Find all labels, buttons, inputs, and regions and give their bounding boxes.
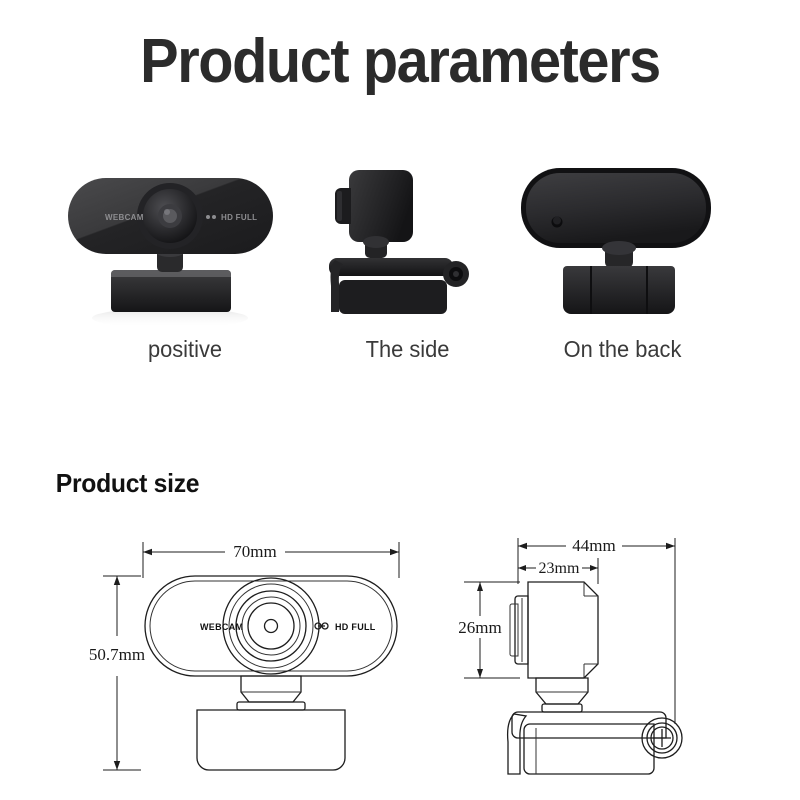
caption-side: The side bbox=[320, 336, 496, 363]
front-photo-webcam-label: WEBCAM bbox=[105, 213, 144, 222]
section-title: Product size bbox=[56, 468, 199, 499]
dim-height-50-7mm: 50.7mm bbox=[89, 645, 145, 664]
webcam-front-photo: WEBCAM HD FULL bbox=[60, 160, 310, 335]
caption-back: On the back bbox=[520, 336, 724, 363]
product-parameters-page: Product parameters bbox=[0, 0, 800, 800]
product-views-row: WEBCAM HD FULL positive bbox=[0, 160, 800, 375]
dim-width-70mm: 70mm bbox=[233, 542, 276, 561]
product-view-back: On the back bbox=[515, 160, 730, 375]
page-title: Product parameters bbox=[28, 26, 772, 97]
dim-body-depth-23mm: 23mm bbox=[539, 560, 580, 577]
dim-depth-44mm: 44mm bbox=[572, 536, 615, 555]
side-dimension-drawing: 44mm 23mm 26mm bbox=[440, 528, 740, 778]
webcam-side-photo bbox=[315, 160, 500, 335]
front-dimension-drawing: 70mm 50.7mm WEBCAM bbox=[85, 528, 425, 778]
drawing-hdfull-label: HD FULL bbox=[335, 622, 376, 632]
webcam-back-photo bbox=[515, 160, 730, 335]
drawing-webcam-label: WEBCAM bbox=[200, 622, 243, 632]
caption-front: positive bbox=[66, 336, 304, 363]
product-size-drawings: 70mm 50.7mm WEBCAM bbox=[0, 528, 800, 790]
product-view-side: The side bbox=[315, 160, 500, 375]
product-view-front: WEBCAM HD FULL positive bbox=[60, 160, 310, 375]
dim-body-height-26mm: 26mm bbox=[458, 618, 501, 637]
front-photo-hdfull-label: HD FULL bbox=[221, 213, 257, 222]
